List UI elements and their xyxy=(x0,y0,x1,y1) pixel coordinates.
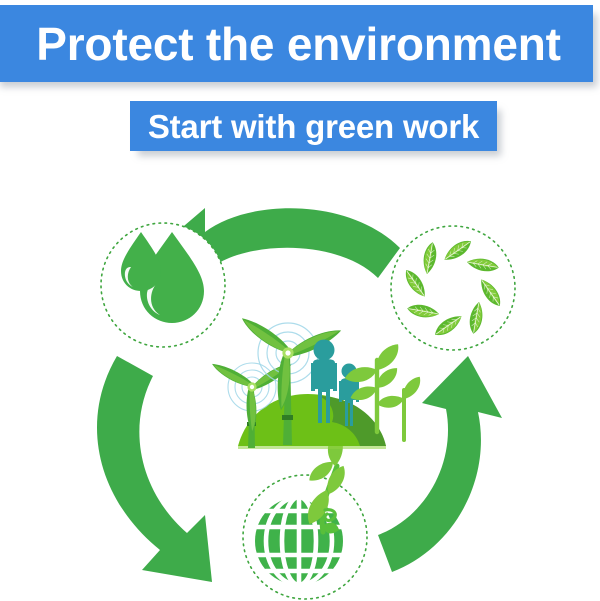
green-living-scene xyxy=(210,311,425,449)
eco-cycle-diagram: Water drops Leaf ring Green globe with s… xyxy=(0,160,600,600)
badge-green-globe[interactable] xyxy=(243,431,367,599)
badge-leaf-ring[interactable] xyxy=(391,226,515,350)
badge-water-drops[interactable] xyxy=(101,223,225,347)
headline-primary-banner: Protect the environment xyxy=(0,5,593,82)
arrow-left xyxy=(97,356,212,582)
arrow-right xyxy=(378,356,502,572)
headline-primary-text: Protect the environment xyxy=(36,21,561,67)
headline-secondary-text: Start with green work xyxy=(148,110,479,143)
poster-canvas: Protect the environment Start with green… xyxy=(0,0,600,600)
headline-secondary-banner: Start with green work xyxy=(130,101,497,151)
